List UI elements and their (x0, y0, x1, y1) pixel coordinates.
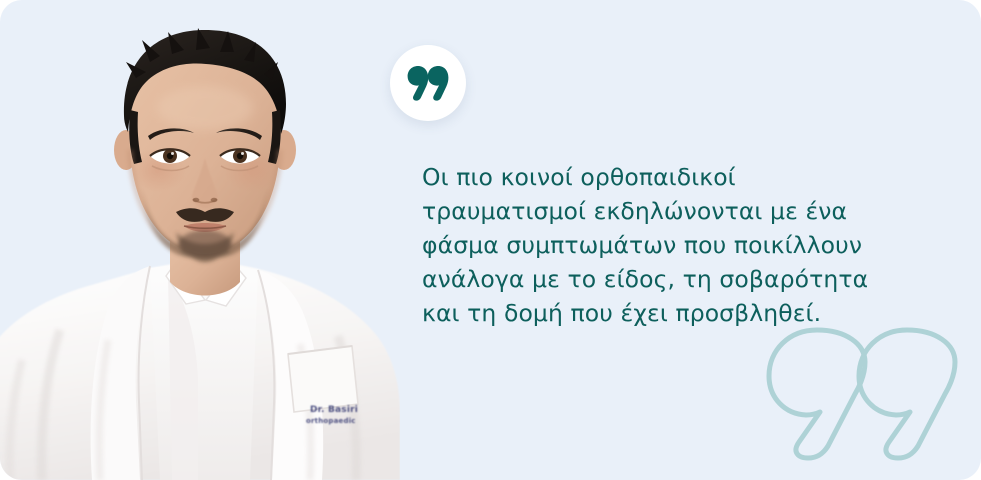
svg-text:Dr. Basiri: Dr. Basiri (310, 405, 358, 415)
testimonial-card: Dr. Basiri orthopaedic (0, 0, 981, 480)
doctor-portrait: Dr. Basiri orthopaedic (0, 0, 400, 480)
testimonial-quote-text: Οι πιο κοινοί ορθοπαιδικοί τραυματισμοί … (422, 160, 900, 330)
svg-text:orthopaedic: orthopaedic (306, 417, 356, 425)
decorative-double-quote-outline-icon (759, 322, 959, 462)
quote-badge (390, 45, 466, 121)
double-quote-icon (407, 65, 449, 103)
